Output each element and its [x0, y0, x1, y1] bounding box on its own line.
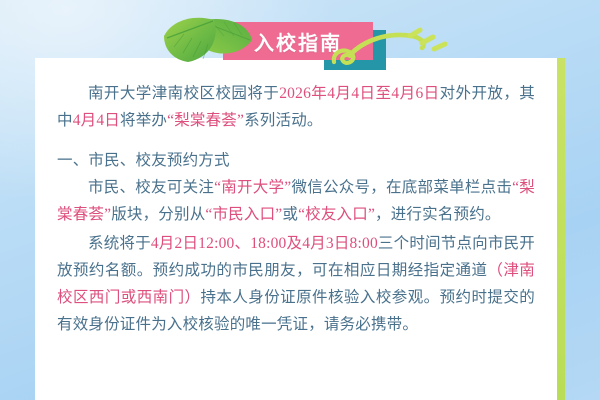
body-text: ，进行实名预约。 [375, 206, 501, 223]
body-text: 系列活动。 [244, 112, 323, 129]
card-accent-stripe [557, 58, 565, 400]
body-text: 市民、校友可关注 [88, 179, 214, 196]
highlighted-text: “梨棠春荟” [167, 112, 244, 129]
body-text: 微信公众号，在底部菜单栏点击 [291, 179, 512, 196]
body-text: 系统将于 [88, 235, 151, 252]
body-text: 将举办 [120, 112, 167, 129]
paragraph-booking-times: 系统将于4月2日12:00、18:00及4月3日8:00三个时间节点向市民开放预… [57, 230, 535, 338]
paragraph-booking-method: 市民、校友可关注“南开大学”微信公众号，在底部菜单栏点击“梨棠春荟”版块，分别从… [57, 174, 535, 228]
sparkle-ticks-icon [404, 26, 450, 56]
highlighted-text: “校友入口” [298, 206, 375, 223]
highlighted-text: 2026年4月4日至4月6日 [279, 85, 439, 102]
article-body: 南开大学津南校区校园将于2026年4月4日至4月6日对外开放，其中4月4日将举办… [35, 58, 557, 400]
body-text: 或 [282, 206, 298, 223]
highlighted-text: 4月2日12:00、18:00及4月3日8:00 [151, 235, 378, 252]
body-text: 南开大学津南校区校园将于 [88, 85, 279, 102]
body-text: 版块，分别从 [111, 206, 205, 223]
paragraph-intro: 南开大学津南校区校园将于2026年4月4日至4月6日对外开放，其中4月4日将举办… [57, 80, 535, 134]
poster-root: 入校指南 [0, 0, 600, 400]
paragraph-section-heading-1: 一、市民、校友预约方式 [57, 147, 535, 174]
body-text: 一、市民、校友预约方式 [57, 152, 230, 169]
highlighted-text: “市民入口” [205, 206, 282, 223]
highlighted-text: “南开大学” [214, 179, 291, 196]
highlighted-text: 4月4日 [73, 112, 120, 129]
